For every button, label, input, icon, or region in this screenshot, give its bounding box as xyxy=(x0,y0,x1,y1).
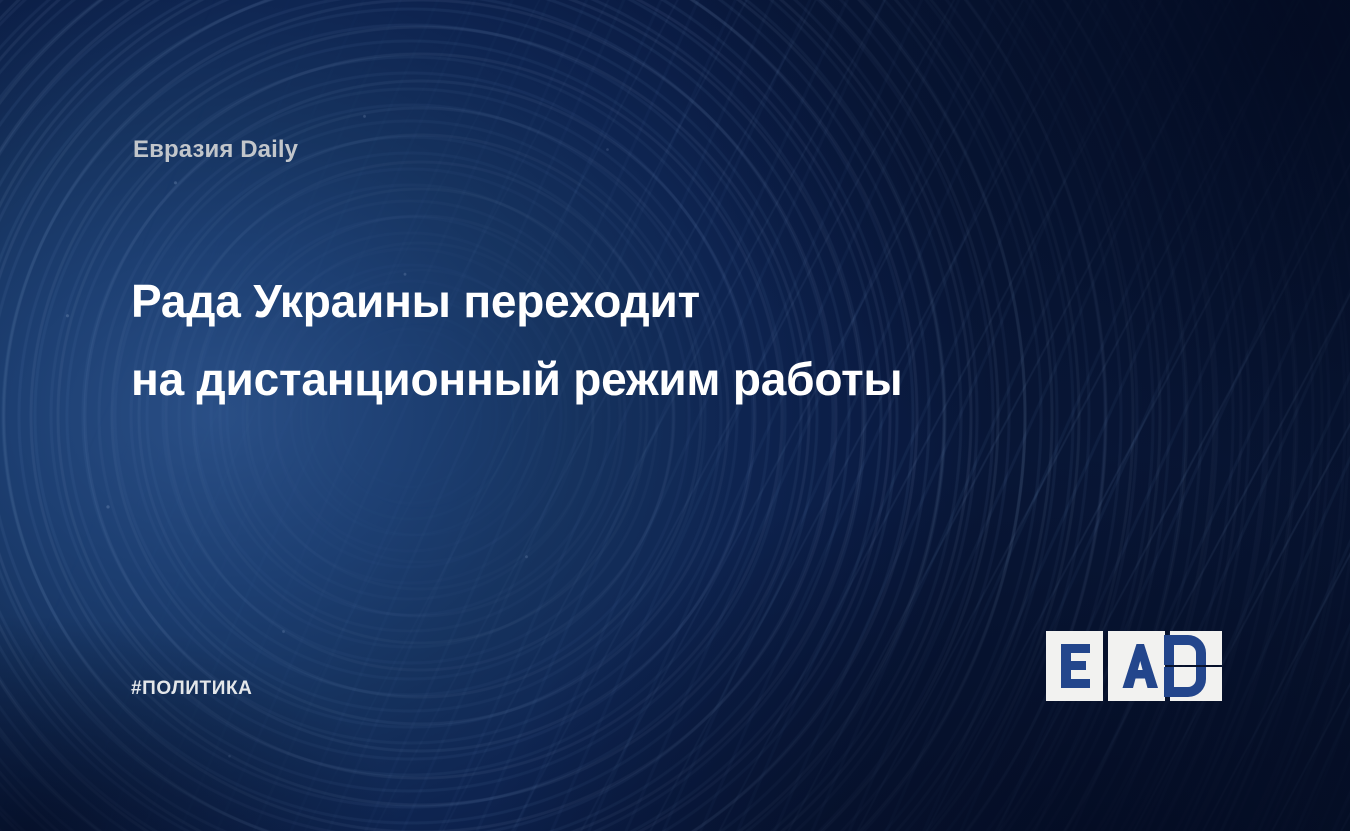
headline-line-2: на дистанционный режим работы xyxy=(131,340,1131,418)
headline-line-1: Рада Украины переходит xyxy=(131,262,1131,340)
eadaily-logo xyxy=(1046,631,1222,701)
brand-wordmark: Евразия Daily xyxy=(133,136,298,164)
card-content: Евразия Daily Рада Украины переходит на … xyxy=(0,0,1350,831)
logo-letter-e xyxy=(1061,644,1090,688)
news-card: Евразия Daily Рада Украины переходит на … xyxy=(0,0,1350,831)
category-tag[interactable]: #ПОЛИТИКА xyxy=(131,678,253,700)
headline: Рада Украины переходит на дистанционный … xyxy=(131,262,1131,418)
logo-letter-d xyxy=(1164,635,1206,697)
